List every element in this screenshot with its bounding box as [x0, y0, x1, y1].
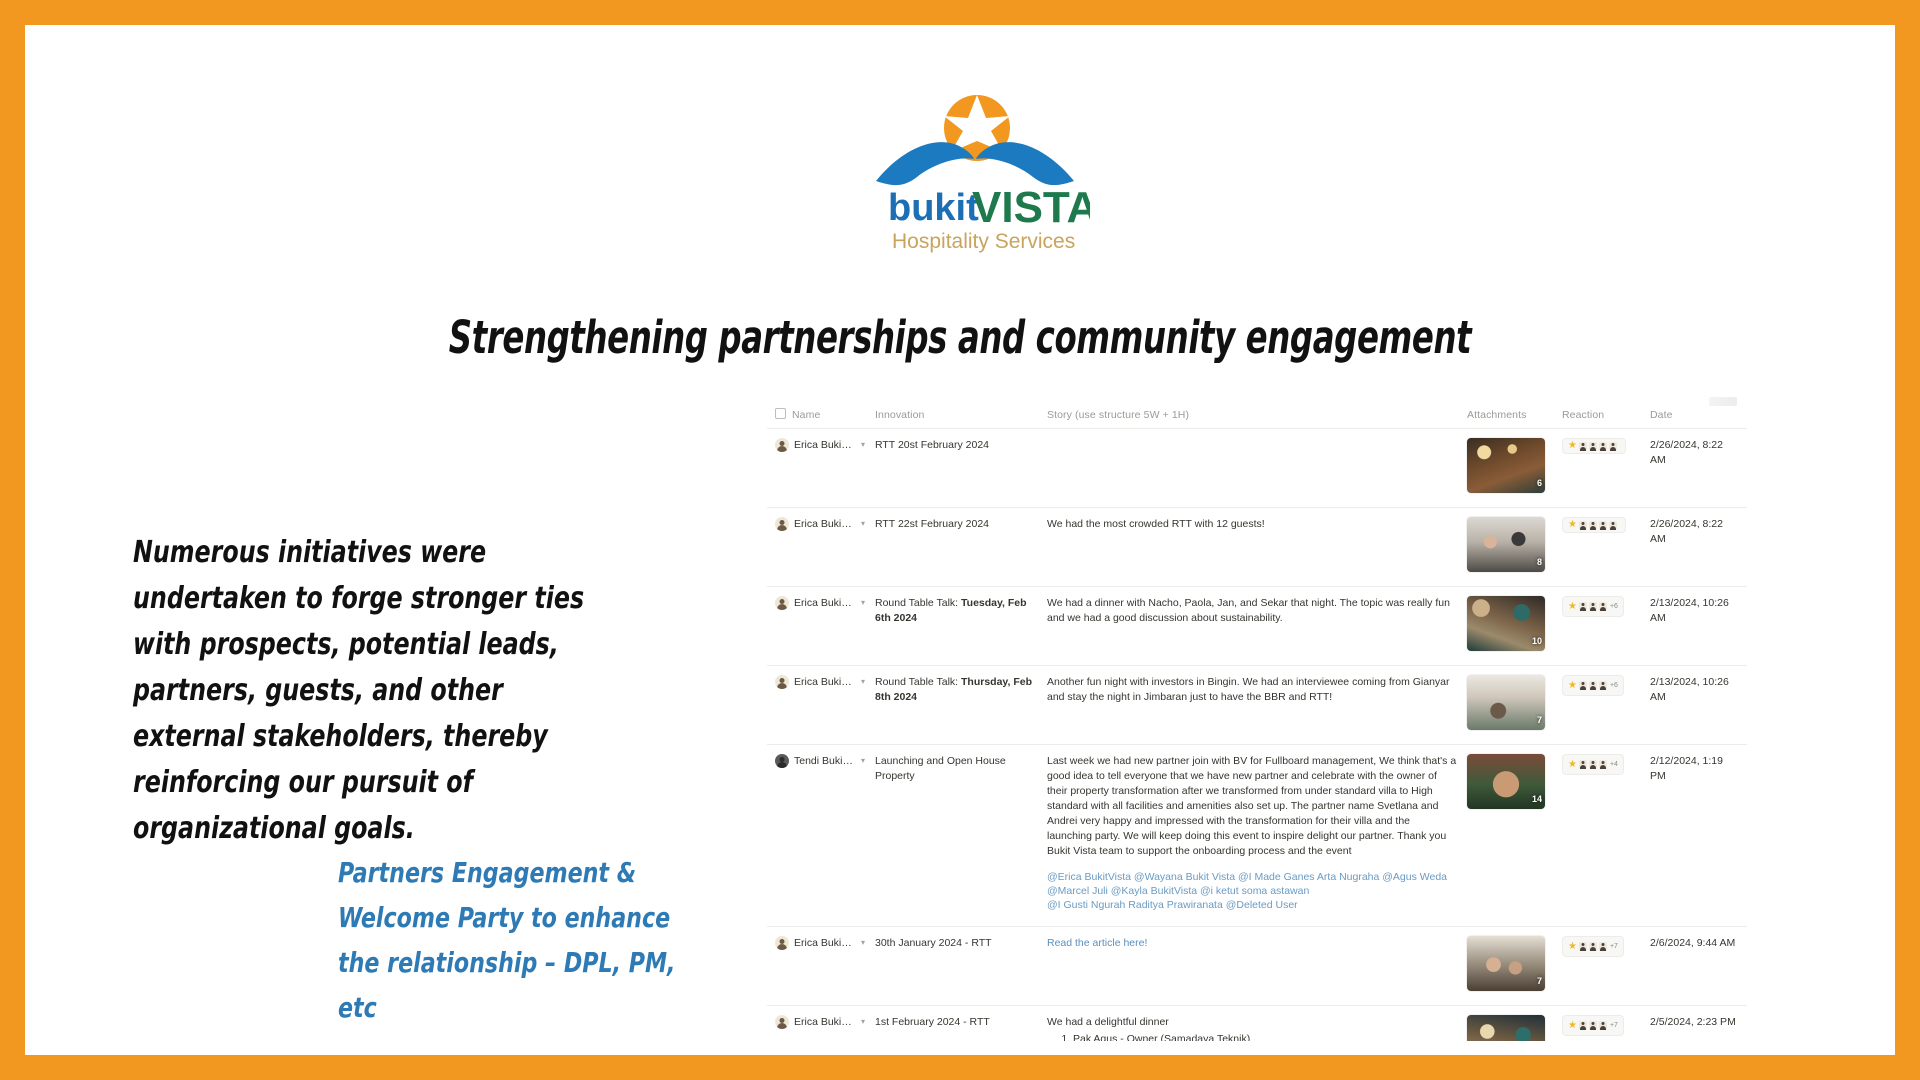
cell-reaction[interactable]: ★+6	[1562, 666, 1650, 745]
reactor-avatar	[1599, 442, 1607, 451]
attachment-thumbnail[interactable]: 10	[1467, 596, 1545, 651]
cell-name[interactable]: Erica BukitV...▾	[767, 666, 875, 745]
table-row[interactable]: Erica BukitV...▾30th January 2024 - RTTR…	[767, 927, 1747, 1006]
cell-name[interactable]: Erica BukitV...▾	[767, 1006, 875, 1042]
row-user-name: Tendi Bukit...	[794, 754, 854, 769]
reactor-avatar	[1599, 521, 1607, 530]
cell-attachments[interactable]: 10	[1467, 587, 1562, 666]
row-user-name: Erica BukitV...	[794, 936, 854, 951]
reaction-chip[interactable]: ★+4	[1562, 754, 1624, 775]
reaction-chip[interactable]: ★+6	[1562, 596, 1624, 617]
attachment-count: 7	[1537, 974, 1542, 989]
stories-table: Name Innovation Story (use structure 5W …	[767, 407, 1747, 1041]
cell-innovation[interactable]: RTT 22st February 2024	[875, 508, 1047, 587]
body-paragraph: Numerous initiatives were undertaken to …	[133, 530, 599, 852]
reactor-avatar	[1589, 760, 1597, 769]
cell-attachments[interactable]: 7	[1467, 1006, 1562, 1042]
cell-attachments[interactable]: 6	[1467, 429, 1562, 508]
reaction-chip[interactable]: ★	[1562, 438, 1626, 454]
reaction-chip[interactable]: ★+7	[1562, 1015, 1624, 1036]
cell-innovation[interactable]: RTT 20st February 2024	[875, 429, 1047, 508]
cell-name[interactable]: Tendi Bukit...▾	[767, 745, 875, 927]
reaction-chip[interactable]: ★+6	[1562, 675, 1624, 696]
col-header-name[interactable]: Name	[767, 407, 875, 429]
reactor-avatar	[1599, 681, 1607, 690]
cell-date[interactable]: 2/12/2024, 1:19 PM	[1650, 745, 1747, 927]
cell-attachments[interactable]: 7	[1467, 666, 1562, 745]
mountain-left-icon	[876, 142, 974, 185]
reactor-avatar	[1579, 1021, 1587, 1030]
logo-graphic: bukit VISTA Hospitality Services	[860, 85, 1090, 260]
cell-attachments[interactable]: 7	[1467, 927, 1562, 1006]
avatar	[775, 517, 789, 531]
table-body: Erica BukitV...▾RTT 20st February 20246★…	[767, 429, 1747, 1042]
chevron-down-icon[interactable]: ▾	[861, 936, 865, 950]
row-user-name: Erica BukitV...	[794, 517, 854, 532]
reaction-chip[interactable]: ★+7	[1562, 936, 1624, 957]
reaction-overflow-count: +6	[1610, 678, 1618, 693]
star-icon: ★	[1568, 520, 1577, 530]
reactor-avatar	[1589, 1021, 1597, 1030]
reaction-chip[interactable]: ★	[1562, 517, 1626, 533]
reactor-avatar	[1589, 442, 1597, 451]
cell-innovation[interactable]: 1st February 2024 - RTT	[875, 1006, 1047, 1042]
chevron-down-icon[interactable]: ▾	[861, 675, 865, 689]
cell-reaction[interactable]: ★	[1562, 508, 1650, 587]
attachment-count: 6	[1537, 476, 1542, 491]
cell-innovation[interactable]: 30th January 2024 - RTT	[875, 927, 1047, 1006]
slide-canvas: bukit VISTA Hospitality Services Strengt…	[25, 25, 1895, 1055]
mention-line[interactable]: @I Gusti Ngurah Raditya Prawiranata @Del…	[1047, 898, 1457, 912]
mention-line[interactable]: @Erica BukitVista @Wayana Bukit Vista @I…	[1047, 870, 1457, 884]
avatar	[775, 438, 789, 452]
cell-attachments[interactable]: 8	[1467, 508, 1562, 587]
attachment-thumbnail[interactable]: 7	[1467, 1015, 1545, 1041]
row-user-name: Erica BukitV...	[794, 596, 854, 611]
attachment-count: 14	[1532, 792, 1542, 807]
cell-date[interactable]: 2/26/2024, 8:22 AM	[1650, 429, 1747, 508]
cell-story[interactable]: Read the article here!	[1047, 927, 1467, 1006]
attachment-count: 10	[1532, 634, 1542, 649]
logo-tagline: Hospitality Services	[892, 230, 1075, 253]
avatar	[775, 936, 789, 950]
thumbnail-image	[1467, 438, 1545, 493]
star-icon: ★	[1568, 602, 1577, 612]
chevron-down-icon[interactable]: ▾	[861, 596, 865, 610]
star-icon: ★	[1568, 441, 1577, 451]
mountain-right-icon	[976, 142, 1074, 185]
cell-story[interactable]: We had a delightful dinnerPak Agus - Own…	[1047, 1006, 1467, 1042]
attachment-thumbnail[interactable]: 6	[1467, 438, 1545, 493]
table-row[interactable]: Erica BukitV...▾RTT 20st February 20246★…	[767, 429, 1747, 508]
cell-innovation[interactable]: Round Table Talk: Thursday, Feb 8th 2024	[875, 666, 1047, 745]
attachment-thumbnail[interactable]: 7	[1467, 675, 1545, 730]
cell-name[interactable]: Erica BukitV...▾	[767, 508, 875, 587]
reaction-overflow-count: +6	[1610, 599, 1618, 614]
thumbnail-image	[1467, 936, 1545, 991]
story-text: We had the most crowded RTT with 12 gues…	[1047, 517, 1457, 532]
cell-innovation[interactable]: Round Table Talk: Tuesday, Feb 6th 2024	[875, 587, 1047, 666]
story-list: Pak Agus - Owner (Samadaya Teknik)Pak Da…	[1047, 1032, 1457, 1041]
attachment-thumbnail[interactable]: 7	[1467, 936, 1545, 991]
panel-toolbar	[1699, 393, 1739, 409]
reactor-avatar	[1599, 1021, 1607, 1030]
chevron-down-icon[interactable]: ▾	[861, 438, 865, 452]
reaction-overflow-count: +7	[1610, 1018, 1618, 1033]
cell-date[interactable]: 2/5/2024, 2:23 PM	[1650, 1006, 1747, 1042]
col-header-reaction[interactable]: Reaction	[1562, 407, 1650, 429]
story-text: Last week we had new partner join with B…	[1047, 754, 1457, 859]
select-all-checkbox[interactable]	[775, 408, 786, 419]
row-user-name: Erica BukitV...	[794, 438, 854, 453]
reaction-overflow-count: +4	[1610, 757, 1618, 772]
col-header-attachments[interactable]: Attachments	[1467, 407, 1562, 429]
cell-reaction[interactable]: ★	[1562, 429, 1650, 508]
reactor-avatar	[1599, 942, 1607, 951]
cell-story[interactable]: We had the most crowded RTT with 12 gues…	[1047, 508, 1467, 587]
row-user-name: Erica BukitV...	[794, 675, 854, 690]
avatar	[775, 596, 789, 610]
logo-word-bukit: bukit	[888, 187, 979, 229]
reactor-avatar	[1579, 942, 1587, 951]
story-mentions: @Erica BukitVista @Wayana Bukit Vista @I…	[1047, 870, 1457, 912]
attachment-thumbnail[interactable]: 14	[1467, 754, 1545, 809]
table-header: Name Innovation Story (use structure 5W …	[767, 407, 1747, 429]
cell-story[interactable]: We had a dinner with Nacho, Paola, Jan, …	[1047, 587, 1467, 666]
story-text: We had a dinner with Nacho, Paola, Jan, …	[1047, 596, 1457, 626]
story-text: We had a delightful dinner	[1047, 1015, 1457, 1030]
reactor-avatar	[1599, 760, 1607, 769]
thumbnail-image	[1467, 1015, 1545, 1041]
attachment-count: 7	[1537, 713, 1542, 728]
row-user-name: Erica BukitV...	[794, 1015, 854, 1030]
cell-reaction[interactable]: ★+7	[1562, 927, 1650, 1006]
cell-reaction[interactable]: ★+6	[1562, 587, 1650, 666]
cell-story[interactable]: Another fun night with investors in Bing…	[1047, 666, 1467, 745]
cell-story[interactable]	[1047, 429, 1467, 508]
star-icon: ★	[1568, 760, 1577, 770]
toolbar-ghost-control[interactable]	[1709, 397, 1737, 406]
reactor-avatar	[1579, 681, 1587, 690]
cell-reaction[interactable]: ★+7	[1562, 1006, 1650, 1042]
cell-date[interactable]: 2/6/2024, 9:44 AM	[1650, 927, 1747, 1006]
reactor-avatar	[1609, 442, 1617, 451]
col-header-date[interactable]: Date	[1650, 407, 1747, 429]
cell-attachments[interactable]: 14	[1467, 745, 1562, 927]
chevron-down-icon[interactable]: ▾	[861, 1015, 865, 1029]
attachment-thumbnail[interactable]: 8	[1467, 517, 1545, 572]
reactor-avatar	[1579, 760, 1587, 769]
reactor-avatar	[1589, 942, 1597, 951]
avatar	[775, 754, 789, 768]
reactor-avatar	[1589, 602, 1597, 611]
table-row[interactable]: Erica BukitV...▾1st February 2024 - RTTW…	[767, 1006, 1747, 1042]
page-title: Strengthening partnerships and community…	[212, 311, 1708, 365]
story-article-link[interactable]: Read the article here!	[1047, 937, 1147, 949]
thumbnail-image	[1467, 675, 1545, 730]
reactor-avatar	[1599, 602, 1607, 611]
avatar	[775, 675, 789, 689]
notion-table-screenshot: Name Innovation Story (use structure 5W …	[767, 391, 1747, 1041]
table-row[interactable]: Erica BukitV...▾RTT 22st February 2024We…	[767, 508, 1747, 587]
chevron-down-icon[interactable]: ▾	[861, 754, 865, 768]
table-row[interactable]: Erica BukitV...▾Round Table Talk: Tuesda…	[767, 587, 1747, 666]
cell-reaction[interactable]: ★+4	[1562, 745, 1650, 927]
table-row[interactable]: Erica BukitV...▾Round Table Talk: Thursd…	[767, 666, 1747, 745]
attachment-count: 8	[1537, 555, 1542, 570]
reactor-avatar	[1579, 521, 1587, 530]
reactor-avatar	[1579, 602, 1587, 611]
star-icon: ★	[1568, 942, 1577, 952]
col-header-innovation[interactable]: Innovation	[875, 407, 1047, 429]
reaction-overflow-count: +7	[1610, 939, 1618, 954]
reactor-avatar	[1589, 681, 1597, 690]
col-header-name-label: Name	[792, 409, 820, 421]
cell-innovation[interactable]: Launching and Open House Property	[875, 745, 1047, 927]
cell-date[interactable]: 2/13/2024, 10:26 AM	[1650, 666, 1747, 745]
thumbnail-image	[1467, 517, 1545, 572]
bukit-vista-logo: bukit VISTA Hospitality Services	[860, 85, 1090, 260]
cell-date[interactable]: 2/26/2024, 8:22 AM	[1650, 508, 1747, 587]
reactor-avatar	[1579, 442, 1587, 451]
cell-name[interactable]: Erica BukitV...▾	[767, 429, 875, 508]
cell-name[interactable]: Erica BukitV...▾	[767, 927, 875, 1006]
table-row[interactable]: Tendi Bukit...▾Launching and Open House …	[767, 745, 1747, 927]
logo-word-vista: VISTA	[972, 183, 1090, 232]
cell-story[interactable]: Last week we had new partner join with B…	[1047, 745, 1467, 927]
star-icon: ★	[1568, 681, 1577, 691]
cell-date[interactable]: 2/13/2024, 10:26 AM	[1650, 587, 1747, 666]
chevron-down-icon[interactable]: ▾	[861, 517, 865, 531]
reactor-avatar	[1609, 521, 1617, 530]
reactor-avatar	[1589, 521, 1597, 530]
story-text: Another fun night with investors in Bing…	[1047, 675, 1457, 705]
caption-text: Partners Engagement & Welcome Party to e…	[338, 850, 690, 1030]
cell-name[interactable]: Erica BukitV...▾	[767, 587, 875, 666]
star-icon: ★	[1568, 1021, 1577, 1031]
avatar	[775, 1015, 789, 1029]
list-item: Pak Agus - Owner (Samadaya Teknik)	[1073, 1032, 1457, 1041]
mention-line[interactable]: @Marcel Juli @Kayla BukitVista @i ketut …	[1047, 884, 1457, 898]
col-header-story[interactable]: Story (use structure 5W + 1H)	[1047, 407, 1467, 429]
